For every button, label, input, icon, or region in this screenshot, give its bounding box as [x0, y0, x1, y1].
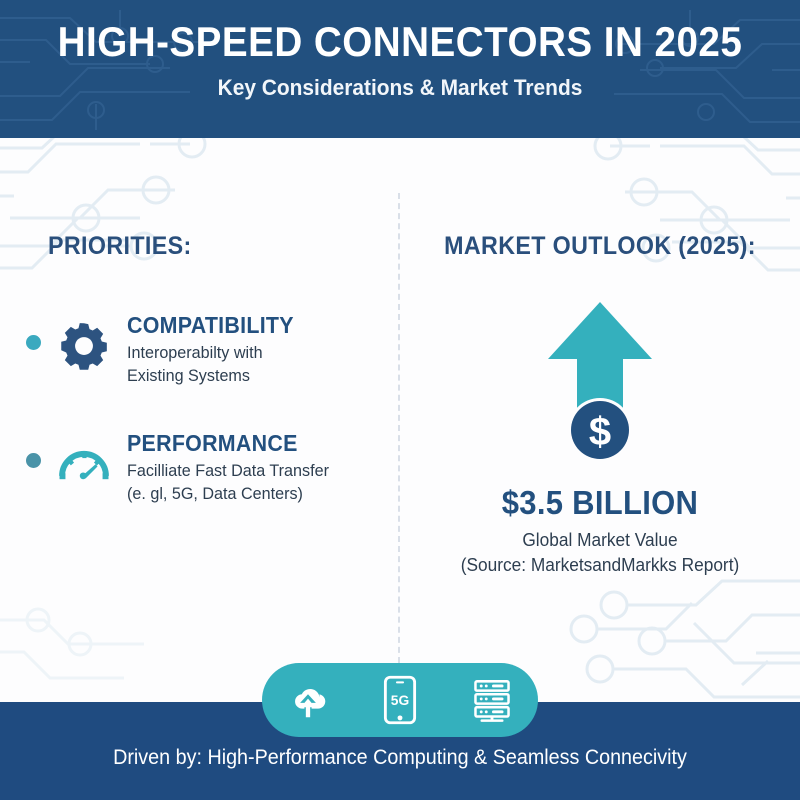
cloud-upload-icon[interactable]: [282, 674, 334, 726]
priority-title: PERFORMANCE: [127, 431, 325, 455]
dollar-circle-icon: $: [571, 401, 629, 459]
technology-icon-pill: 5G: [262, 663, 538, 737]
content-columns: PRIORITIES: COMPATIBILITY Interope: [0, 138, 800, 702]
priority-description-line: Facilliate Fast Data Transfer: [127, 460, 329, 482]
market-outlook-heading: MARKET OUTLOOK (2025):: [414, 232, 786, 261]
header-banner: HIGH-SPEED CONNECTORS IN 2025 Key Consid…: [0, 0, 800, 138]
market-value-source: (Source: MarketsandMarkks Report): [408, 553, 792, 578]
priority-text-performance: PERFORMANCE Facilliate Fast Data Transfe…: [127, 431, 340, 505]
svg-text:$: $: [589, 410, 611, 454]
infographic-root: HIGH-SPEED CONNECTORS IN 2025 Key Consid…: [0, 0, 800, 800]
priority-description: Facilliate Fast Data Transfer (e. gl, 5G…: [127, 460, 329, 505]
market-value: $3.5 BILLION: [412, 484, 788, 522]
priorities-column: PRIORITIES: COMPATIBILITY Interope: [0, 138, 398, 549]
page-subtitle: Key Considerations & Market Trends: [20, 77, 780, 99]
market-outlook-column: MARKET OUTLOOK (2025): $ $3.5 BILLION Gl…: [400, 138, 800, 578]
phone-5g-icon[interactable]: 5G: [374, 674, 426, 726]
priority-item-performance[interactable]: PERFORMANCE Facilliate Fast Data Transfe…: [0, 431, 398, 505]
footer-tagline: Driven by: High-Performance Computing & …: [24, 746, 776, 770]
priority-title: COMPATIBILITY: [127, 313, 294, 337]
phone-5g-label: 5G: [391, 692, 409, 708]
header-text-block: HIGH-SPEED CONNECTORS IN 2025 Key Consid…: [0, 0, 800, 99]
priority-text-compatibility: COMPATIBILITY Interoperabilty with Exist…: [127, 313, 306, 387]
priority-item-compatibility[interactable]: COMPATIBILITY Interoperabilty with Exist…: [0, 313, 398, 387]
priority-description-line: Interoperabilty with: [127, 342, 297, 364]
speedometer-icon: [57, 437, 111, 491]
market-value-caption: Global Market Value: [408, 528, 792, 553]
priority-description-line: Existing Systems: [127, 365, 297, 387]
bullet-dot-performance: [26, 453, 41, 468]
server-rack-icon[interactable]: [466, 674, 518, 726]
priorities-list: COMPATIBILITY Interoperabilty with Exist…: [0, 313, 398, 505]
page-title: HIGH-SPEED CONNECTORS IN 2025: [32, 21, 768, 63]
priority-description: Interoperabilty with Existing Systems: [127, 342, 297, 387]
priority-description-line: (e. gl, 5G, Data Centers): [127, 483, 329, 505]
priorities-heading: PRIORITIES:: [48, 232, 374, 261]
gear-icon: [57, 319, 111, 373]
market-growth-graphic: $: [400, 297, 800, 462]
bullet-dot-compatibility: [26, 335, 41, 350]
